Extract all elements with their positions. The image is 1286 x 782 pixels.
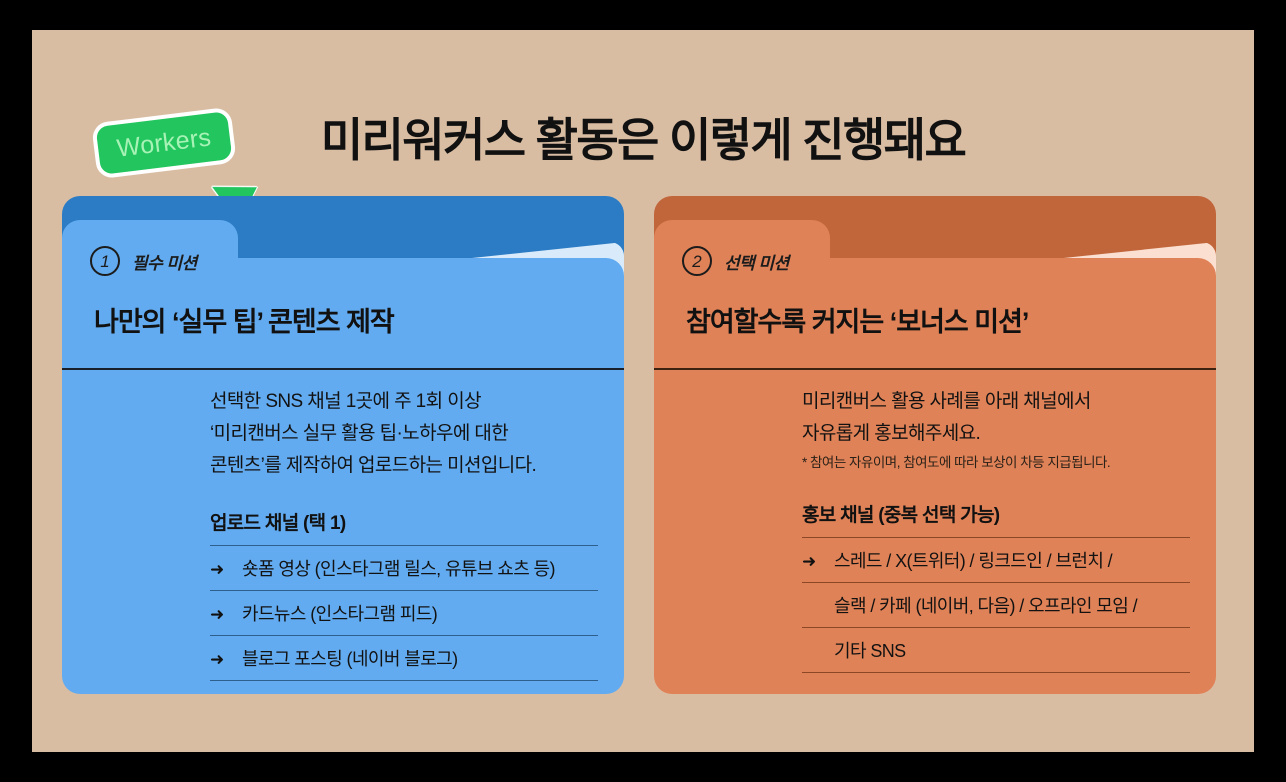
heading-divider: [62, 368, 624, 370]
body-line: 선택한 SNS 채널 1곳에 주 1회 이상: [210, 386, 598, 418]
slide-canvas: 미리워커스 활동은 이렇게 진행돼요 Workers 1 필수 미션 나만의 ‘…: [32, 30, 1254, 752]
arrow-right-icon: ➜: [210, 650, 230, 670]
card-heading: 참여할수록 커지는 ‘보너스 미션’: [686, 300, 1028, 339]
card-tab-row: 2 선택 미션: [682, 246, 789, 276]
list-item: ➜ 기타 SNS: [802, 627, 1190, 672]
list-item-label: 스레드 / X(트위터) / 링크드인 / 브런치 /: [834, 547, 1112, 573]
channel-list: ➜ 숏폼 영상 (인스타그램 릴스, 유튜브 쇼츠 등) ➜ 카드뉴스 (인스타…: [210, 545, 598, 681]
arrow-right-icon: ➜: [802, 552, 822, 572]
card-number-badge: 1: [90, 246, 120, 276]
mission-card-optional: 2 선택 미션 참여할수록 커지는 ‘보너스 미션’ 미리캔버스 활용 사례를 …: [654, 196, 1216, 694]
card-sub-heading: 업로드 채널 (택 1): [210, 508, 598, 535]
arrow-right-icon: ➜: [210, 560, 230, 580]
list-item-label: 슬랙 / 카페 (네이버, 다음) / 오프라인 모임 /: [834, 592, 1137, 618]
card-tab-label: 필수 미션: [132, 249, 197, 274]
card-body: 미리캔버스 활용 사례를 아래 채널에서 자유롭게 홍보해주세요. * 참여는 …: [802, 386, 1190, 673]
body-line: 미리캔버스 활용 사례를 아래 채널에서: [802, 386, 1190, 418]
list-item-label: 블로그 포스팅 (네이버 블로그): [242, 645, 458, 671]
body-line: 자유롭게 홍보해주세요.: [802, 418, 1190, 450]
card-number-badge: 2: [682, 246, 712, 276]
card-heading: 나만의 ‘실무 팁’ 콘텐츠 제작: [94, 300, 394, 339]
card-tab-row: 1 필수 미션: [90, 246, 197, 276]
list-item: ➜ 숏폼 영상 (인스타그램 릴스, 유튜브 쇼츠 등): [210, 545, 598, 590]
card-tab-label: 선택 미션: [724, 249, 789, 274]
arrow-right-icon: ➜: [210, 605, 230, 625]
list-item-label: 기타 SNS: [834, 637, 906, 663]
list-item: ➜ 스레드 / X(트위터) / 링크드인 / 브런치 /: [802, 537, 1190, 582]
workers-badge-label: Workers: [115, 123, 213, 163]
body-line: ‘미리캔버스 실무 활용 팁·노하우에 대한: [210, 418, 598, 450]
channel-list: ➜ 스레드 / X(트위터) / 링크드인 / 브런치 / ➜ 슬랙 / 카페 …: [802, 537, 1190, 673]
list-item-label: 숏폼 영상 (인스타그램 릴스, 유튜브 쇼츠 등): [242, 555, 555, 581]
slide-root: 미리워커스 활동은 이렇게 진행돼요 Workers 1 필수 미션 나만의 ‘…: [0, 0, 1286, 782]
card-note: * 참여는 자유이며, 참여도에 따라 보상이 차등 지급됩니다.: [802, 452, 1190, 474]
list-item: ➜ 카드뉴스 (인스타그램 피드): [210, 590, 598, 635]
mission-card-required: 1 필수 미션 나만의 ‘실무 팁’ 콘텐츠 제작 선택한 SNS 채널 1곳에…: [62, 196, 624, 694]
card-body: 선택한 SNS 채널 1곳에 주 1회 이상 ‘미리캔버스 실무 활용 팁·노하…: [210, 386, 598, 681]
list-item: ➜ 슬랙 / 카페 (네이버, 다음) / 오프라인 모임 /: [802, 582, 1190, 627]
heading-divider: [654, 368, 1216, 370]
list-item: ➜ 블로그 포스팅 (네이버 블로그): [210, 635, 598, 680]
body-line: 콘텐츠’를 제작하여 업로드하는 미션입니다.: [210, 450, 598, 482]
list-item-label: 카드뉴스 (인스타그램 피드): [242, 600, 437, 626]
card-sub-heading: 홍보 채널 (중복 선택 가능): [802, 500, 1190, 527]
